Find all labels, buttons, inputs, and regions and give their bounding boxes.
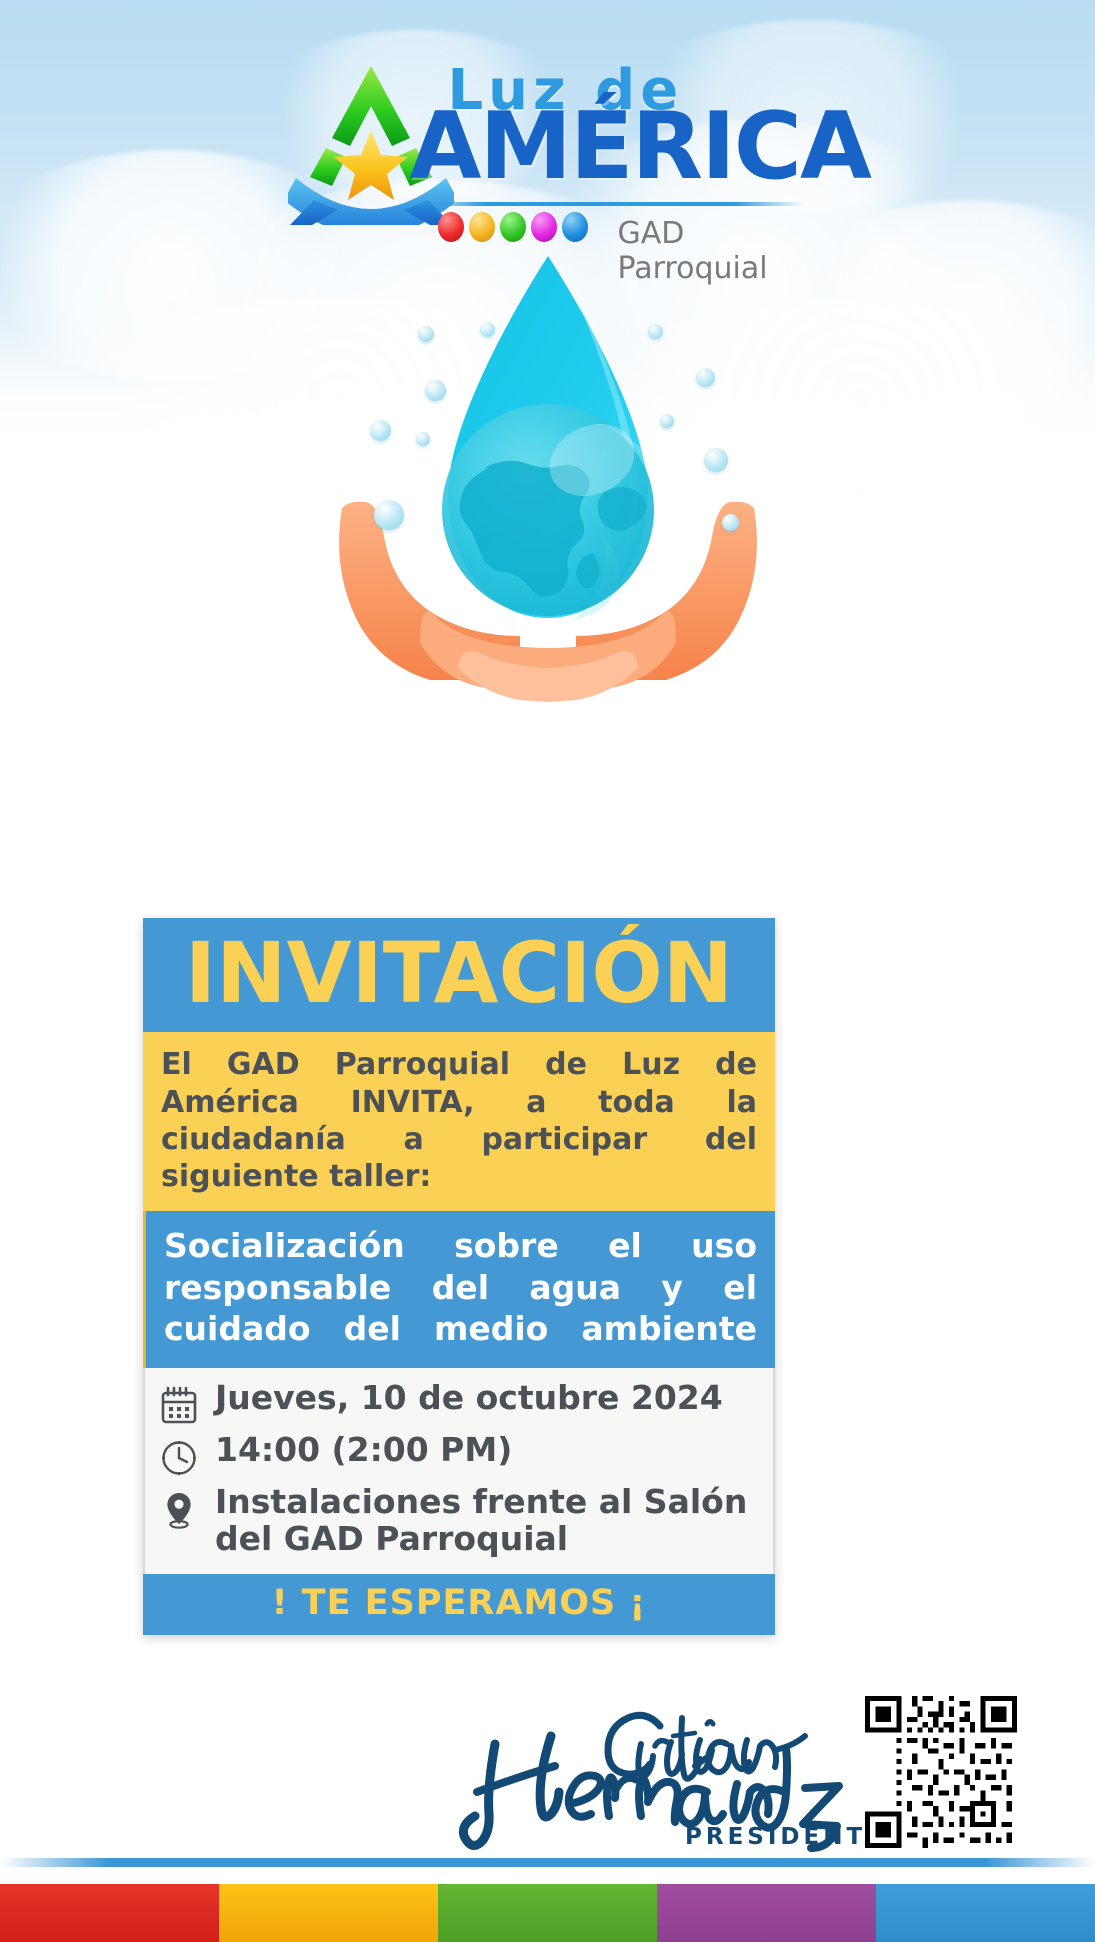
calendar-icon	[157, 1380, 201, 1426]
event-details: Jueves, 10 de octubre 2024 14:00 (2:00 P…	[143, 1368, 775, 1574]
footer-bar-segment	[657, 1884, 876, 1942]
bubble	[480, 322, 495, 337]
detail-time-text: 14:00 (2:00 PM)	[215, 1432, 512, 1469]
water-drop-illustration	[0, 238, 1095, 738]
logo-underline	[414, 202, 804, 206]
footer-bar-segment	[219, 1884, 438, 1942]
bubble	[704, 448, 728, 472]
invitation-title-banner: INVITACIÓN	[143, 918, 775, 1032]
footer-bar-segment	[438, 1884, 657, 1942]
signature-role: PRESIDENTE	[685, 1824, 886, 1850]
detail-date-text: Jueves, 10 de octubre 2024	[215, 1380, 723, 1417]
intro-banner: El GAD Parroquial de Luz de América INVI…	[143, 1032, 775, 1211]
globe-shape	[442, 404, 678, 628]
detail-row-time: 14:00 (2:00 PM)	[157, 1432, 759, 1478]
detail-row-location: Instalaciones frente al Salón del GAD Pa…	[157, 1484, 759, 1558]
topic-banner: Socialización sobre el uso responsable d…	[143, 1211, 775, 1368]
drop-globe-hands-graphic	[308, 238, 788, 738]
signature-block: PRESIDENTE	[455, 1688, 1075, 1863]
invitation-card: INVITACIÓN El GAD Parroquial de Luz de A…	[143, 918, 775, 1635]
qr-code[interactable]	[865, 1696, 1017, 1848]
topic-text: Socialización sobre el uso responsable d…	[164, 1225, 757, 1350]
footer-color-bar	[0, 1884, 1095, 1942]
closing-banner: ! TE ESPERAMOS ¡	[143, 1574, 775, 1635]
logo-line-2: AMÉRICA	[410, 100, 871, 193]
bubble	[425, 380, 446, 401]
brand-logo: Luz de AMÉRICA GAD Parroquial	[0, 52, 1095, 242]
bubble	[660, 414, 674, 428]
bubble	[696, 368, 715, 387]
footer-accent-line	[0, 1858, 1095, 1867]
intro-text: El GAD Parroquial de Luz de América INVI…	[161, 1046, 757, 1195]
closing-text: ! TE ESPERAMOS ¡	[143, 1583, 775, 1623]
detail-row-date: Jueves, 10 de octubre 2024	[157, 1380, 759, 1426]
bubble	[418, 326, 434, 342]
location-pin-icon	[157, 1484, 201, 1530]
bubble	[416, 432, 430, 446]
clock-icon	[157, 1432, 201, 1478]
bubble	[722, 514, 739, 531]
footer-bar-segment	[876, 1884, 1095, 1942]
bubble	[370, 420, 391, 441]
footer-bar-segment	[0, 1884, 219, 1942]
bubble	[648, 324, 663, 339]
bubble	[374, 500, 404, 530]
page-title: INVITACIÓN	[143, 932, 775, 1014]
detail-location-text: Instalaciones frente al Salón del GAD Pa…	[215, 1484, 759, 1558]
